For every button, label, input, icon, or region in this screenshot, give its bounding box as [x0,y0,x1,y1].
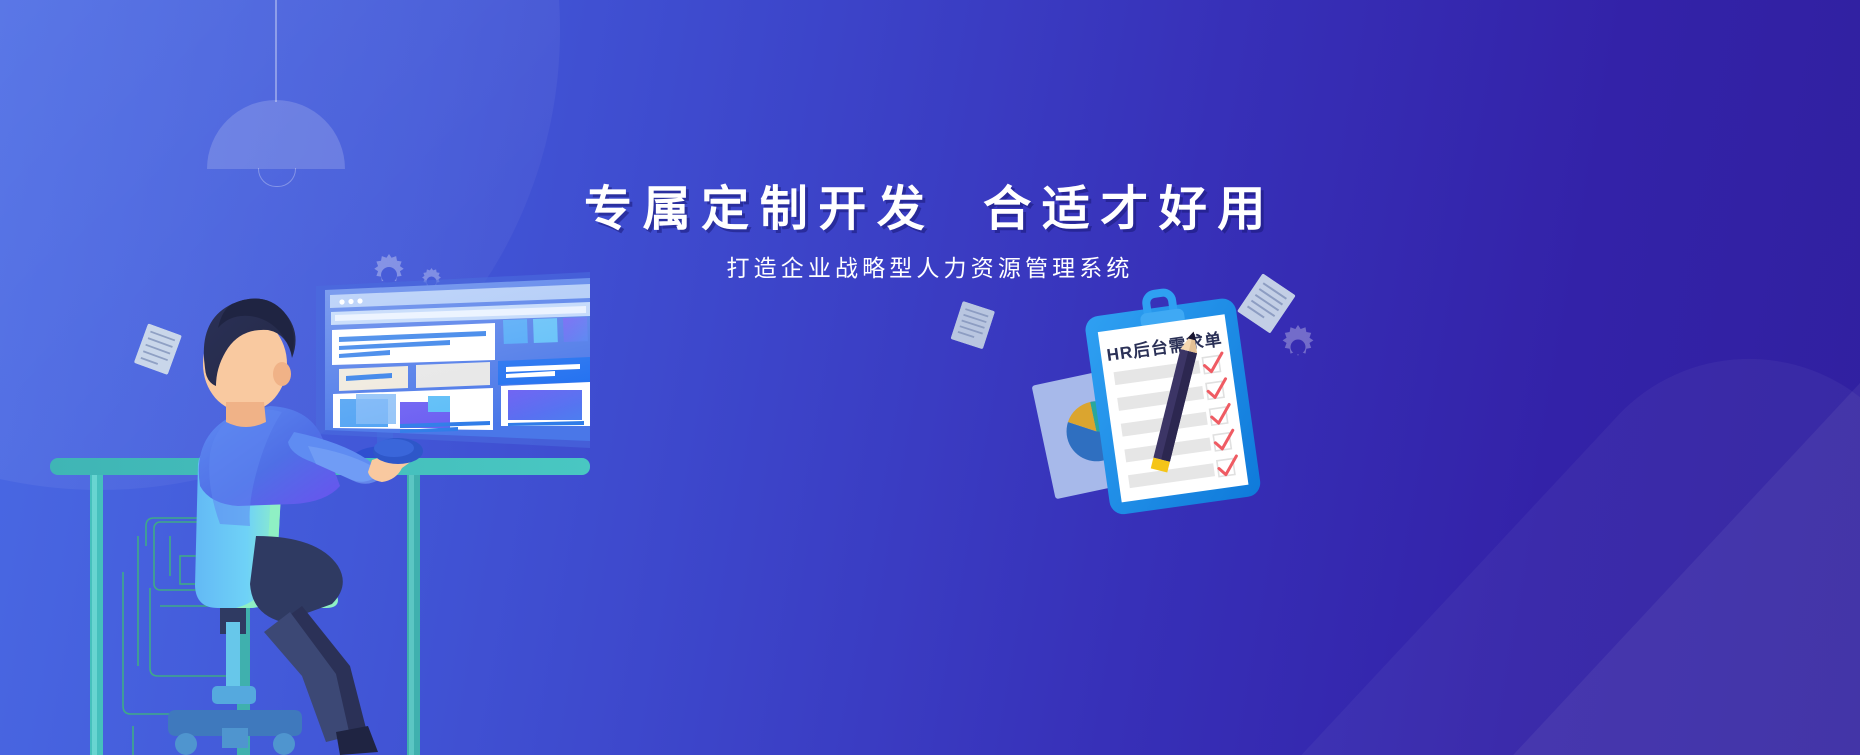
decorative-diagonal-shape-a [1302,214,1860,755]
floating-paper-icon [949,301,995,354]
banner-copy: 专属定制开发 合适才好用 打造企业战略型人力资源管理系统 [0,182,1860,282]
hero-banner: 专属定制开发 合适才好用 打造企业战略型人力资源管理系统 [0,0,1860,755]
illustration-person-at-desk [50,236,590,755]
hanging-lamp-icon [207,100,345,169]
clipboard: HR后台需求单 [1082,283,1262,516]
decorative-diagonal-shape-b [1548,317,1860,755]
screen-glare [325,278,590,441]
banner-subhead: 打造企业战略型人力资源管理系统 [0,255,1860,283]
lamp-wire [275,0,277,102]
illustration-hr-clipboard: HR后台需求单 [1000,270,1330,530]
banner-headline: 专属定制开发 合适才好用 [0,182,1860,239]
